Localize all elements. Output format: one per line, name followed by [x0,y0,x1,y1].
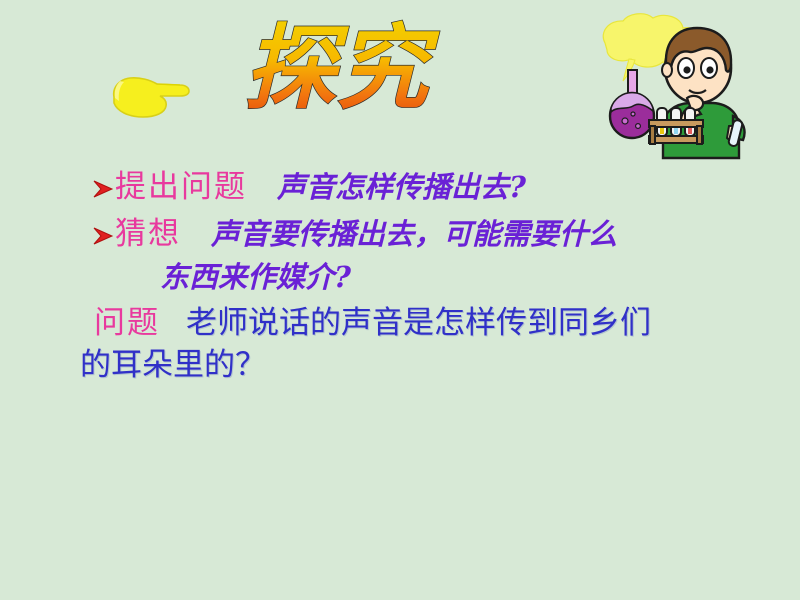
slide-title: 探究 探究 [186,8,486,128]
content-line-1: 提出问题声音怎样传播出去? [0,172,800,219]
slide-canvas: 探究 探究 [0,0,800,600]
arrow-bullet-icon [92,225,114,247]
arrow-bullet-icon [92,178,114,200]
title-wordart-icon: 探究 [186,8,486,128]
content-body: 提出问题声音怎样传播出去? 猜想声音要传播出去，可能需要什么 东西来作媒介? 问… [0,172,800,394]
svg-text:探究: 探究 [244,14,440,122]
content-line-2: 猜想声音要传播出去，可能需要什么 [0,219,800,263]
line-3-body: 东西来作媒介? [160,260,351,294]
line-5-body: 的耳朵里的？ [80,347,266,383]
thinking-boy-illustration [583,8,758,160]
pointing-hand-icon [108,63,198,125]
line-4-body: 老师说话的声音是怎样传到同乡们 [186,305,651,341]
line-2-label: 猜想 [115,216,181,252]
line-4-label: 问题 [94,305,160,341]
line-1-label: 提出问题 [115,169,247,205]
content-line-5: 的耳朵里的？ [0,350,800,394]
content-line-4: 问题老师说话的声音是怎样传到同乡们 [0,308,800,350]
content-line-3: 东西来作媒介? [0,263,800,308]
line-2-body: 声音要传播出去，可能需要什么 [211,217,617,251]
round-flask-icon [610,70,654,138]
test-tube-rack-icon [649,108,703,144]
line-1-body: 声音怎样传播出去? [277,170,526,204]
